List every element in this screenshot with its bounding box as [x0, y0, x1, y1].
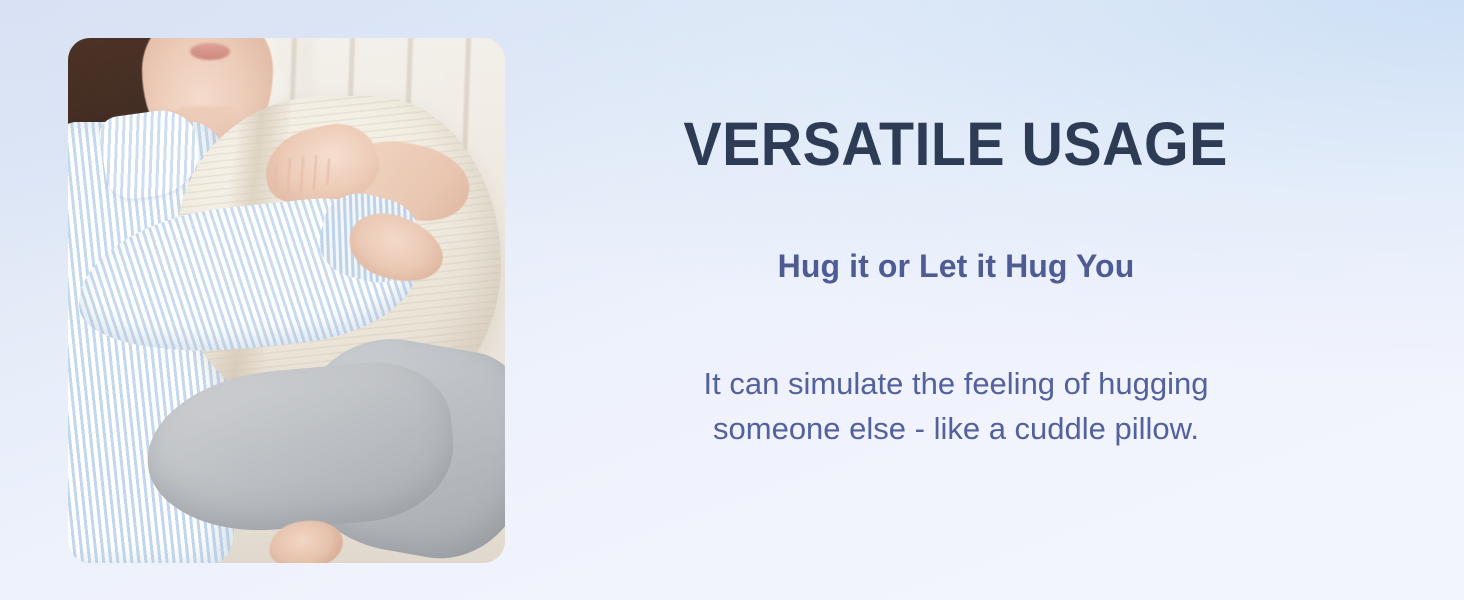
copy-block: VERSATILE USAGE Hug it or Let it Hug You…	[600, 0, 1312, 600]
body-copy-line-2: someone else - like a cuddle pillow.	[704, 407, 1209, 452]
model-lips	[190, 43, 229, 60]
body-copy: It can simulate the feeling of hugging s…	[704, 362, 1209, 452]
page-title: VERSATILE USAGE	[684, 112, 1228, 176]
body-copy-line-1: It can simulate the feeling of hugging	[704, 362, 1209, 407]
lifestyle-photo	[68, 38, 505, 563]
photo-scene	[68, 38, 505, 563]
page-subtitle: Hug it or Let it Hug You	[778, 247, 1135, 285]
versatile-usage-banner: VERSATILE USAGE Hug it or Let it Hug You…	[0, 0, 1464, 600]
